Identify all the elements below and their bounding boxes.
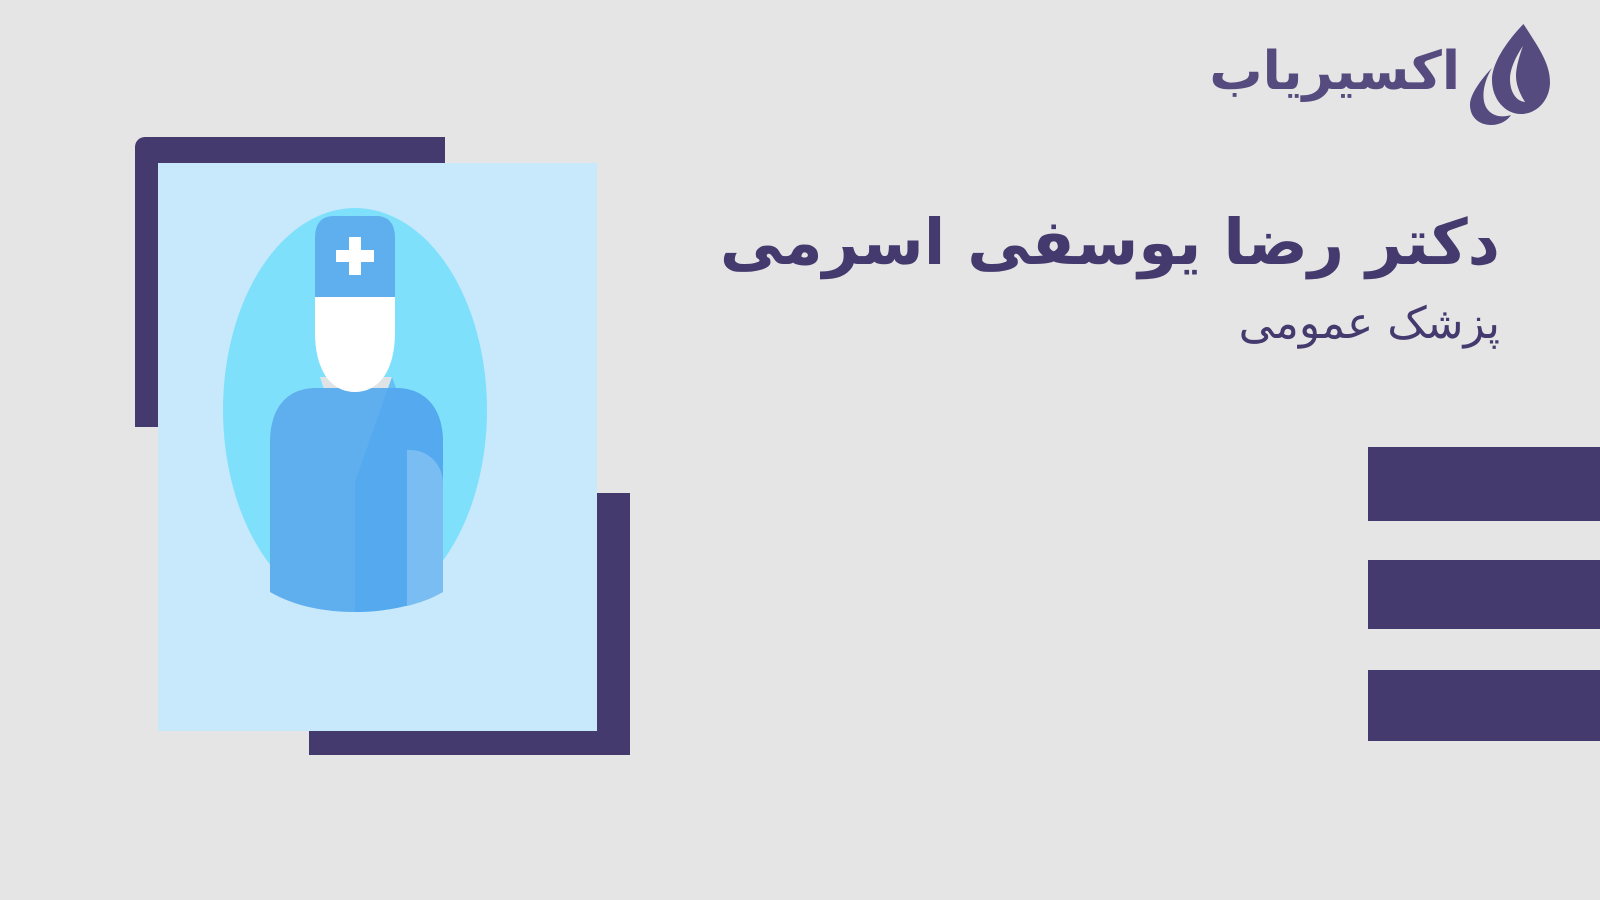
doctor-name: دکتر رضا یوسفی اسرمی — [720, 206, 1500, 280]
brand-name: اکسیریاب — [1209, 45, 1460, 104]
decorative-bar-2 — [1368, 560, 1600, 629]
brand-logo[interactable]: اکسیریاب — [1209, 22, 1552, 126]
flame-icon — [1466, 22, 1552, 126]
decorative-bar-3 — [1368, 670, 1600, 741]
decorative-bar-1 — [1368, 447, 1600, 521]
doctor-specialty: پزشک عمومی — [720, 298, 1500, 351]
doctor-illustration — [135, 137, 630, 755]
profile-text-block: دکتر رضا یوسفی اسرمی پزشک عمومی — [720, 206, 1500, 351]
doctor-avatar-icon — [220, 192, 490, 612]
doctor-profile-banner: اکسیریاب دکتر رضا یوسفی اسرمی پزشک عمومی — [0, 0, 1600, 900]
accent-square-front-right — [596, 493, 630, 755]
accent-square-front-bottom — [309, 731, 630, 755]
